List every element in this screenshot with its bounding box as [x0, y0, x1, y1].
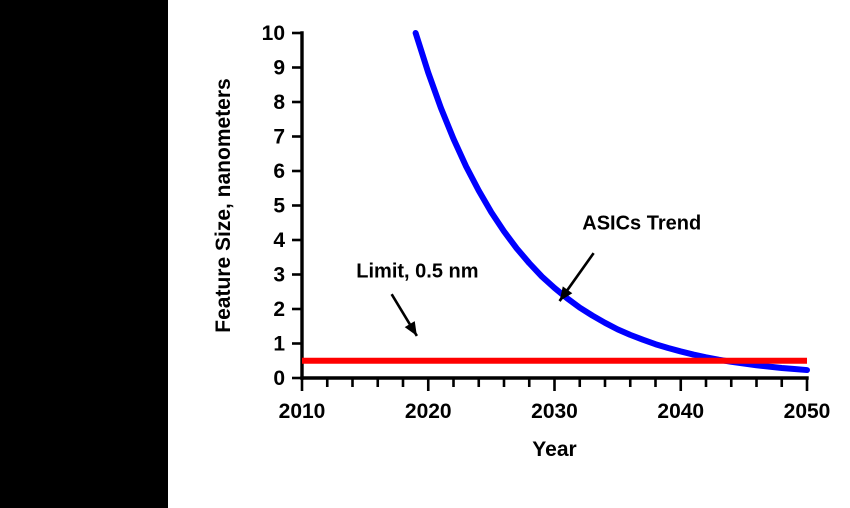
- x-axis-title: Year: [532, 438, 576, 461]
- annotation-label: ASICs Trend: [582, 213, 701, 235]
- y-axis-tick-label: 2: [273, 298, 285, 321]
- y-axis-tick-label: 9: [273, 57, 285, 80]
- y-axis-title: Feature Size, nanometers: [212, 78, 235, 332]
- annotation-label: Limit, 0.5 nm: [356, 260, 478, 282]
- annotation-arrow-head: [405, 321, 417, 336]
- feature-size-trend-chart: 01234567891020102020203020402050YearFeat…: [168, 0, 850, 508]
- y-axis-tick-label: 10: [262, 22, 285, 45]
- y-axis-tick-label: 4: [273, 229, 285, 252]
- y-axis-tick-label: 1: [273, 333, 285, 356]
- x-axis-tick-label: 2010: [279, 400, 326, 423]
- x-axis-tick-label: 2050: [784, 400, 831, 423]
- y-axis-tick-label: 8: [273, 91, 285, 114]
- y-axis-tick-label: 5: [273, 195, 285, 218]
- y-axis-tick-label: 7: [273, 126, 285, 149]
- y-axis-tick-label: 6: [273, 160, 285, 183]
- x-axis-tick-label: 2020: [405, 400, 452, 423]
- x-axis-tick-label: 2040: [657, 400, 704, 423]
- y-axis-tick-label: 3: [273, 264, 285, 287]
- chart-screenshot: 01234567891020102020203020402050YearFeat…: [0, 0, 850, 508]
- y-axis-tick-label: 0: [273, 367, 285, 390]
- chart-plot-container: 01234567891020102020203020402050YearFeat…: [168, 0, 850, 508]
- left-black-band: [0, 0, 168, 508]
- series-line-asics-trend: [416, 33, 807, 370]
- x-axis-tick-label: 2030: [531, 400, 578, 423]
